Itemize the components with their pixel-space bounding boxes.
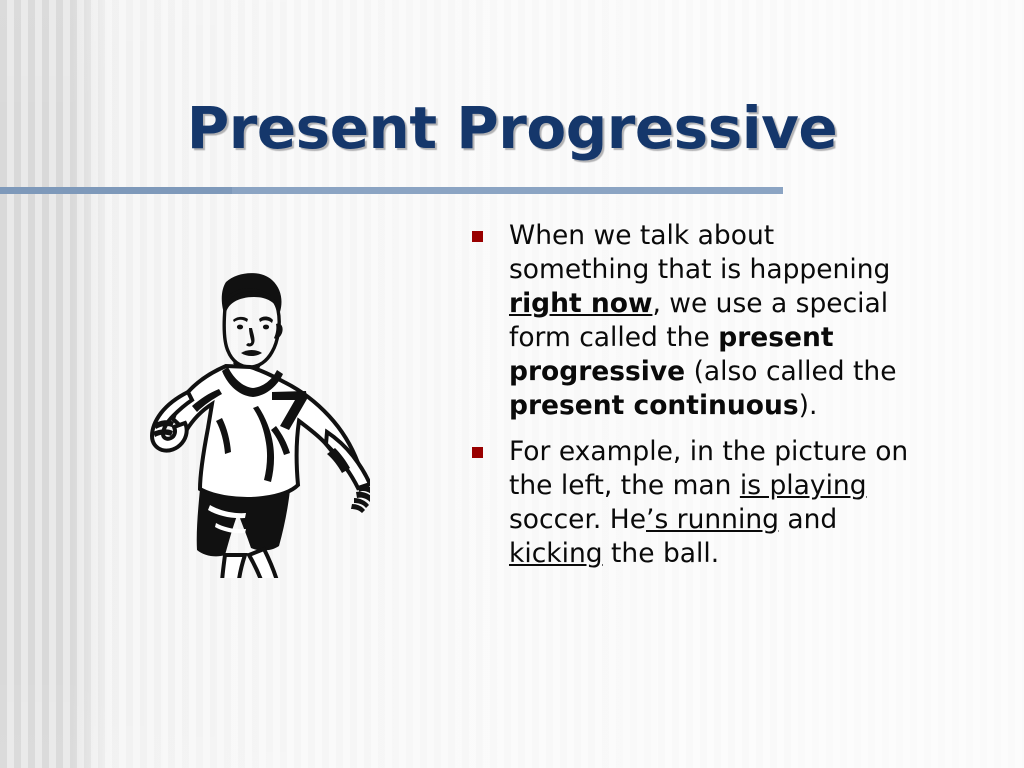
bullet-text-1: When we talk about something that is hap… [509,219,920,423]
body-text-block: When we talk about something that is hap… [472,219,920,583]
title-divider-line [0,187,783,194]
bullet-text-2: For example, in the picture on the left,… [509,435,920,571]
list-item: When we talk about something that is hap… [472,219,920,423]
square-bullet-icon [472,231,483,242]
square-bullet-icon [472,447,483,458]
soccer-player-clipart [130,258,370,578]
list-item: For example, in the picture on the left,… [472,435,920,571]
slide-canvas: Present Progressive [0,0,1024,768]
slide-title: Present Progressive [60,98,964,159]
